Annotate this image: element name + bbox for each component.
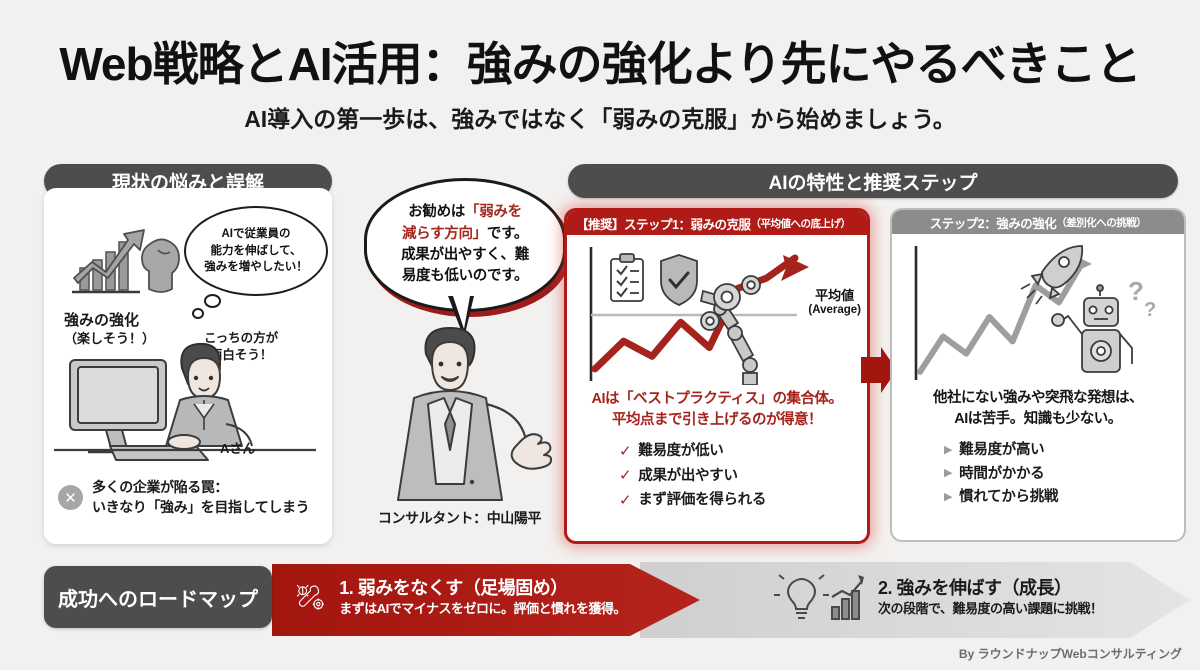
step1-card: 【推奨】ステップ1：弱みの克服（平均値への底上げ） — [564, 208, 870, 544]
thought-bubble-dot-large — [204, 294, 221, 308]
bullet-text: 難易度が低い — [638, 440, 723, 463]
roadmap-label: 成功へのロードマップ — [44, 566, 272, 628]
bubble-l3: 成果が出やすく、難 — [401, 245, 529, 266]
trap-text: 多くの企業が陥る罠：いきなり「強み」を目指してしまう — [92, 478, 309, 517]
roadmap-step-1: 1. 弱みをなくす（足場固め） まずはAIでマイナスをゼロに。評価と慣れを獲得。 — [296, 570, 626, 626]
bullet-mark-icon: ✓ — [619, 464, 631, 488]
bullet-mark-icon: ▶ — [944, 442, 952, 460]
step2-header-main: ステップ2：強みの強化 — [930, 213, 1056, 232]
step2-header-sub: （差別化への挑戦） — [1056, 215, 1146, 230]
wrench-gear-icon — [296, 573, 327, 623]
consultant-speech-bubble: お勧めは「弱みを 減らす方向」です。 成果が出やすく、難 易度も低いのです。 — [364, 178, 566, 312]
svg-text:?: ? — [1144, 299, 1156, 321]
step1-header: 【推奨】ステップ1：弱みの克服（平均値への底上げ） — [567, 211, 867, 235]
bullet-text: 時間がかかる — [959, 463, 1044, 486]
step2-caption: 他社にない強みや突飛な発想は、AIは苦手。知識も少ない。 — [892, 388, 1184, 430]
bullet-mark-icon: ✓ — [619, 489, 631, 513]
bubble-l4: 易度も低いのです。 — [401, 266, 529, 287]
page-subtitle: AI導入の第一歩は、強みではなく「弱みの克服」から始めましょう。 — [0, 100, 1200, 134]
section-banner-right: AIの特性と推奨ステップ — [568, 164, 1178, 198]
consultant-speech-text: お勧めは「弱みを 減らす方向」です。 成果が出やすく、難 易度も低いのです。 — [401, 202, 529, 288]
page-title: Web戦略とAI活用：強みの強化より先にやるべきこと — [0, 28, 1200, 94]
clipboard-icon — [611, 254, 643, 301]
roadmap-step-2-title: 2. 強みを伸ばす（成長） — [878, 578, 1102, 599]
current-problems-card: 強みの強化 （楽しそう！） AIで従業員の能力を伸ばして、強みを増やしたい！ こ… — [44, 188, 332, 544]
lightbulb-growth-icon — [770, 573, 866, 623]
roadmap-step-1-desc: まずはAIでマイナスをゼロに。評価と慣れを獲得。 — [339, 601, 626, 618]
infographic-root: Web戦略とAI活用：強みの強化より先にやるべきこと AI導入の第一歩は、強みで… — [0, 0, 1200, 670]
roadmap-step-2-desc: 次の段階で、難易度の高い課題に挑戦！ — [878, 601, 1102, 618]
person-label: Aさん — [220, 438, 255, 457]
credit-label: By ラウンドナップWebコンサルティング — [959, 645, 1182, 662]
bubble-l2red: 減らす方向」 — [402, 226, 487, 242]
trap-callout: ✕ 多くの企業が陥る罠：いきなり「強み」を目指してしまう — [58, 478, 320, 517]
step2-header: ステップ2：強みの強化（差別化への挑戦） — [892, 210, 1184, 234]
bubble-l1a: お勧めは — [408, 204, 465, 220]
step1-bullet-list: ✓難易度が低い✓成果が出やすい✓まず評価を得られる — [567, 440, 867, 513]
strength-label-main: 強みの強化 — [64, 312, 155, 331]
step1-header-sub: （平均値への底上げ） — [750, 216, 850, 231]
bubble-l2b: です。 — [487, 226, 528, 242]
step1-caption: AIは「ベストプラクティス」の集合体。平均点まで引き上げるのが得意！ — [567, 389, 867, 431]
thought-bubble-dot-small — [192, 308, 204, 319]
bullet-text: 難易度が高い — [959, 439, 1044, 462]
step1-chart: 平均値 (Average) — [567, 235, 867, 385]
question-mark-icons: ? ? — [1128, 276, 1156, 321]
thought-bubble-employee: AIで従業員の能力を伸ばして、強みを増やしたい！ — [184, 206, 328, 296]
consultant-name-label: コンサルタント：中山陽平 — [352, 508, 567, 528]
roadmap-step-2: 2. 強みを伸ばす（成長） 次の段階で、難易度の高い課題に挑戦！ — [770, 570, 1130, 626]
step2-chart: ? ? — [892, 234, 1184, 384]
bullet-text: まず評価を得られる — [638, 489, 766, 512]
bullet-item: ▶慣れてから挑戦 — [944, 486, 1184, 509]
bullet-mark-icon: ✓ — [619, 440, 631, 464]
thought-bubble-text: AIで従業員の能力を伸ばして、強みを増やしたい！ — [204, 226, 308, 276]
step1-header-main: 【推奨】ステップ1：弱みの克服 — [576, 214, 750, 233]
strength-growth-icon — [66, 222, 186, 308]
roadmap-step-1-title: 1. 弱みをなくす（足場固め） — [339, 578, 626, 599]
bullet-mark-icon: ▶ — [944, 489, 952, 507]
step2-bullet-list: ▶難易度が高い▶時間がかかる▶慣れてから挑戦 — [892, 439, 1184, 509]
svg-text:?: ? — [1128, 276, 1144, 306]
bullet-text: 成果が出やすい — [638, 465, 737, 488]
average-label-en: (Average) — [808, 304, 861, 317]
bullet-mark-icon: ▶ — [944, 465, 952, 483]
x-mark-icon: ✕ — [58, 485, 83, 510]
bubble-l1red: 「弱みを — [465, 204, 522, 220]
bullet-item: ▶難易度が高い — [944, 439, 1184, 462]
bullet-item: ✓まず評価を得られる — [619, 489, 867, 513]
bullet-item: ✓難易度が低い — [619, 440, 867, 464]
rocket-icon — [1021, 246, 1082, 304]
bullet-item: ✓成果が出やすい — [619, 464, 867, 488]
step2-line-chart-svg: ? ? — [892, 234, 1184, 384]
average-label-ja: 平均値 — [808, 289, 861, 304]
bullet-item: ▶時間がかかる — [944, 463, 1184, 486]
average-label: 平均値 (Average) — [808, 289, 861, 317]
consultant-illustration — [352, 320, 567, 510]
bullet-text: 慣れてから挑戦 — [959, 486, 1058, 509]
shield-check-icon — [661, 255, 697, 305]
step2-card: ステップ2：強みの強化（差別化への挑戦） — [890, 208, 1186, 542]
person-at-computer-illustration — [54, 338, 316, 478]
